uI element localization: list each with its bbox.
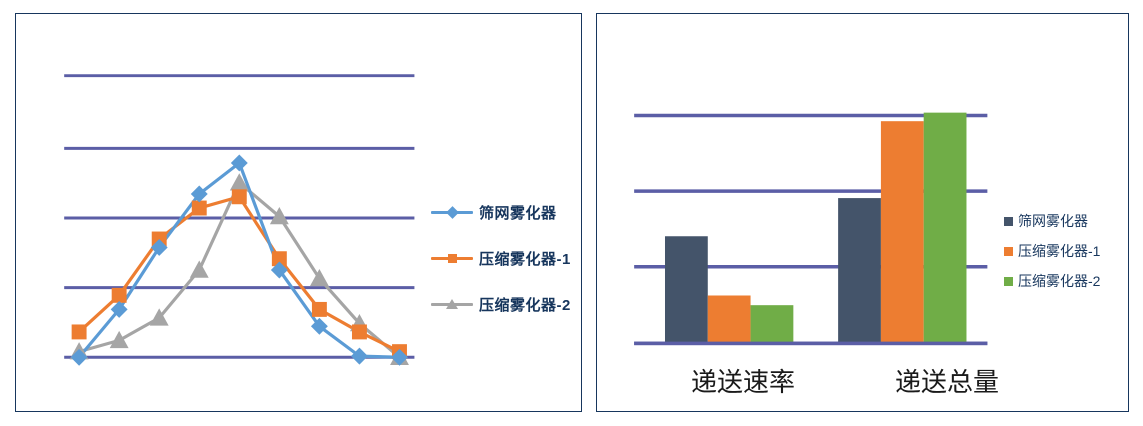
bar-total-delivery-sieve-nebulizer xyxy=(838,198,881,343)
series-line-compressor-nebulizer-2 xyxy=(79,183,399,358)
marker-square-compressor-nebulizer-1-5 xyxy=(272,251,287,266)
category-label-delivery-rate: 递送速率 xyxy=(633,362,853,399)
bar-delivery-rate-sieve-nebulizer xyxy=(665,236,708,343)
legend-label: 压缩雾化器-1 xyxy=(479,248,571,269)
right-chart-panel: 筛网雾化器 压缩雾化器-1 压缩雾化器-2 递送速率 递送总量 xyxy=(596,13,1129,412)
marker-diamond-sieve-nebulizer-6 xyxy=(311,318,328,335)
legend-swatch-icon xyxy=(1004,247,1013,256)
marker-triangle-compressor-nebulizer-2-0 xyxy=(70,342,89,359)
legend-item-compressor-nebulizer-1[interactable]: 压缩雾化器-1 xyxy=(1004,236,1124,266)
legend-label: 筛网雾化器 xyxy=(1018,211,1088,231)
marker-square-compressor-nebulizer-1-1 xyxy=(112,288,127,303)
marker-square-compressor-nebulizer-1-0 xyxy=(72,324,87,339)
bar-total-delivery-compressor-nebulizer-1 xyxy=(881,121,924,343)
marker-triangle-compressor-nebulizer-2-5 xyxy=(270,207,289,224)
line-marker-diamond-icon xyxy=(431,205,473,219)
marker-triangle-compressor-nebulizer-2-1 xyxy=(110,331,129,348)
bar-delivery-rate-compressor-nebulizer-1 xyxy=(708,295,751,343)
marker-square-compressor-nebulizer-1-2 xyxy=(152,232,167,247)
marker-square-compressor-nebulizer-1-8 xyxy=(392,344,407,359)
marker-triangle-compressor-nebulizer-2-8 xyxy=(390,348,409,365)
legend-label: 压缩雾化器-1 xyxy=(1018,241,1100,261)
legend-item-sieve-nebulizer[interactable]: 筛网雾化器 xyxy=(431,189,581,235)
legend-item-sieve-nebulizer[interactable]: 筛网雾化器 xyxy=(1004,206,1124,236)
legend-label: 压缩雾化器-2 xyxy=(1018,271,1100,291)
legend-item-compressor-nebulizer-2[interactable]: 压缩雾化器-2 xyxy=(431,281,581,327)
bar-total-delivery-compressor-nebulizer-2 xyxy=(924,113,967,344)
legend-item-compressor-nebulizer-1[interactable]: 压缩雾化器-1 xyxy=(431,235,581,281)
marker-diamond-sieve-nebulizer-1 xyxy=(111,301,128,318)
line-marker-square-icon xyxy=(431,251,473,265)
marker-square-compressor-nebulizer-1-3 xyxy=(192,201,207,216)
marker-triangle-compressor-nebulizer-2-2 xyxy=(150,308,169,325)
marker-diamond-sieve-nebulizer-8 xyxy=(391,349,408,366)
legend-label: 压缩雾化器-2 xyxy=(479,294,571,315)
series-line-compressor-nebulizer-1 xyxy=(79,197,399,352)
marker-diamond-sieve-nebulizer-7 xyxy=(351,348,368,365)
legend-swatch-icon xyxy=(1004,277,1013,286)
marker-triangle-compressor-nebulizer-2-3 xyxy=(190,261,209,278)
left-chart-panel: 筛网雾化器 压缩雾化器-1 压缩雾化器-2 xyxy=(15,13,582,412)
right-chart-legend: 筛网雾化器 压缩雾化器-1 压缩雾化器-2 xyxy=(1004,206,1124,296)
bar-delivery-rate-compressor-nebulizer-2 xyxy=(751,305,794,343)
marker-diamond-sieve-nebulizer-4 xyxy=(231,155,248,172)
marker-square-compressor-nebulizer-1-6 xyxy=(312,302,327,317)
marker-triangle-compressor-nebulizer-2-7 xyxy=(350,314,369,331)
marker-square-compressor-nebulizer-1-4 xyxy=(232,189,247,204)
marker-diamond-sieve-nebulizer-0 xyxy=(71,349,88,366)
marker-diamond-sieve-nebulizer-5 xyxy=(271,262,288,279)
line-marker-triangle-icon xyxy=(431,297,473,311)
marker-triangle-compressor-nebulizer-2-4 xyxy=(230,173,249,190)
series-line-sieve-nebulizer xyxy=(79,163,399,357)
left-chart-legend: 筛网雾化器 压缩雾化器-1 压缩雾化器-2 xyxy=(431,189,581,327)
legend-label: 筛网雾化器 xyxy=(479,202,557,223)
legend-item-compressor-nebulizer-2[interactable]: 压缩雾化器-2 xyxy=(1004,266,1124,296)
category-label-total-delivery: 递送总量 xyxy=(837,362,1057,399)
marker-diamond-sieve-nebulizer-3 xyxy=(191,185,208,202)
marker-diamond-sieve-nebulizer-2 xyxy=(151,239,168,256)
legend-swatch-icon xyxy=(1004,217,1013,226)
figure-root: 筛网雾化器 压缩雾化器-1 压缩雾化器-2 xyxy=(0,0,1143,426)
marker-square-compressor-nebulizer-1-7 xyxy=(352,324,367,339)
marker-triangle-compressor-nebulizer-2-6 xyxy=(310,269,329,286)
